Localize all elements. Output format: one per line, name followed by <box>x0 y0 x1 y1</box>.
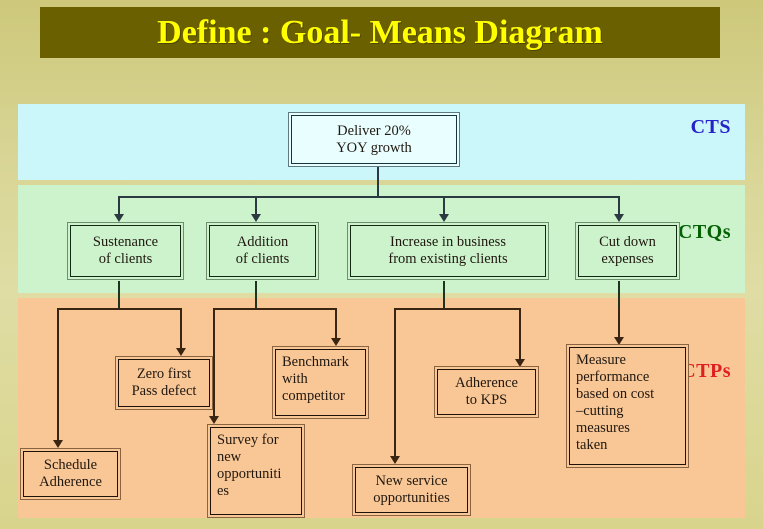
arrowhead-ctq1-right <box>176 348 186 356</box>
connector-ctq3-bus <box>394 308 520 310</box>
arrowhead-ctq3-left <box>390 456 400 464</box>
node-ctq-label: Increase in businessfrom existing client… <box>350 225 546 277</box>
node-ctp-label: Adherenceto KPS <box>437 369 536 415</box>
connector-ctq3-drop-left <box>394 308 396 458</box>
connector-goal-drop-1 <box>118 196 120 216</box>
connector-ctq2-drop-right <box>335 308 337 340</box>
connector-ctq4-stem <box>618 281 620 309</box>
band-label-ctqs: CTQs <box>678 221 731 244</box>
connector-goal-drop-2 <box>255 196 257 216</box>
arrowhead-ctq1-left <box>53 440 63 448</box>
node-ctq-label: Sustenanceof clients <box>70 225 181 277</box>
node-ctp-label: Survey fornewopportunities <box>210 427 302 515</box>
node-ctq-addition-of-clients[interactable]: Additionof clients <box>206 222 319 280</box>
node-ctq-label: Additionof clients <box>209 225 316 277</box>
node-ctq-cut-down-expenses[interactable]: Cut downexpenses <box>575 222 680 280</box>
connector-ctq3-drop-right <box>519 308 521 361</box>
node-ctp-label: New serviceopportunities <box>355 467 468 513</box>
connector-ctq1-drop-right <box>180 308 182 350</box>
slide-canvas: Define : Goal- Means Diagram CTS CTQs CT… <box>0 0 763 529</box>
arrowhead-goal-1 <box>114 214 124 222</box>
connector-ctq2-bus <box>213 308 336 310</box>
connector-ctq4-drop <box>618 308 620 339</box>
connector-goal-drop-3 <box>443 196 445 216</box>
node-ctp-label: Measureperformancebased on cost–cuttingm… <box>569 347 686 465</box>
arrowhead-goal-4 <box>614 214 624 222</box>
node-ctp-zero-first-pass-defect[interactable]: Zero firstPass defect <box>115 356 213 410</box>
node-ctq-sustenance-of-clients[interactable]: Sustenanceof clients <box>67 222 184 280</box>
node-ctp-label: Benchmarkwithcompetitor <box>275 349 366 416</box>
node-ctp-schedule-adherence[interactable]: ScheduleAdherence <box>20 448 121 500</box>
band-label-cts: CTS <box>691 116 731 139</box>
node-ctq-label: Cut downexpenses <box>578 225 677 277</box>
node-ctp-measure-performance[interactable]: Measureperformancebased on cost–cuttingm… <box>566 344 689 468</box>
node-ctq-increase-in-business[interactable]: Increase in businessfrom existing client… <box>347 222 549 280</box>
node-goal-label: Deliver 20%YOY growth <box>291 115 457 164</box>
connector-goal-drop-4 <box>618 196 620 216</box>
connector-ctq2-drop-left <box>213 308 215 418</box>
connector-ctq1-bus <box>57 308 182 310</box>
arrowhead-ctq2-right <box>331 338 341 346</box>
connector-goal-bus <box>118 196 619 198</box>
arrowhead-ctq2-left <box>209 416 219 424</box>
title-band: Define : Goal- Means Diagram <box>40 7 720 58</box>
page-title: Define : Goal- Means Diagram <box>40 7 720 58</box>
connector-ctq1-drop-left <box>57 308 59 442</box>
node-ctp-benchmark-with-competitor[interactable]: Benchmarkwithcompetitor <box>272 346 369 419</box>
connector-ctq2-stem <box>255 281 257 309</box>
node-goal[interactable]: Deliver 20%YOY growth <box>288 112 460 167</box>
node-ctp-survey-for-new-opportunities[interactable]: Survey fornewopportunities <box>207 424 305 518</box>
node-ctp-adherence-to-kps[interactable]: Adherenceto KPS <box>434 366 539 418</box>
connector-goal-stem <box>377 166 379 198</box>
connector-ctq1-stem <box>118 281 120 309</box>
arrowhead-goal-2 <box>251 214 261 222</box>
arrowhead-goal-3 <box>439 214 449 222</box>
node-ctp-new-service-opportunities[interactable]: New serviceopportunities <box>352 464 471 516</box>
node-ctp-label: Zero firstPass defect <box>118 359 210 407</box>
connector-ctq3-stem <box>443 281 445 309</box>
node-ctp-label: ScheduleAdherence <box>23 451 118 497</box>
